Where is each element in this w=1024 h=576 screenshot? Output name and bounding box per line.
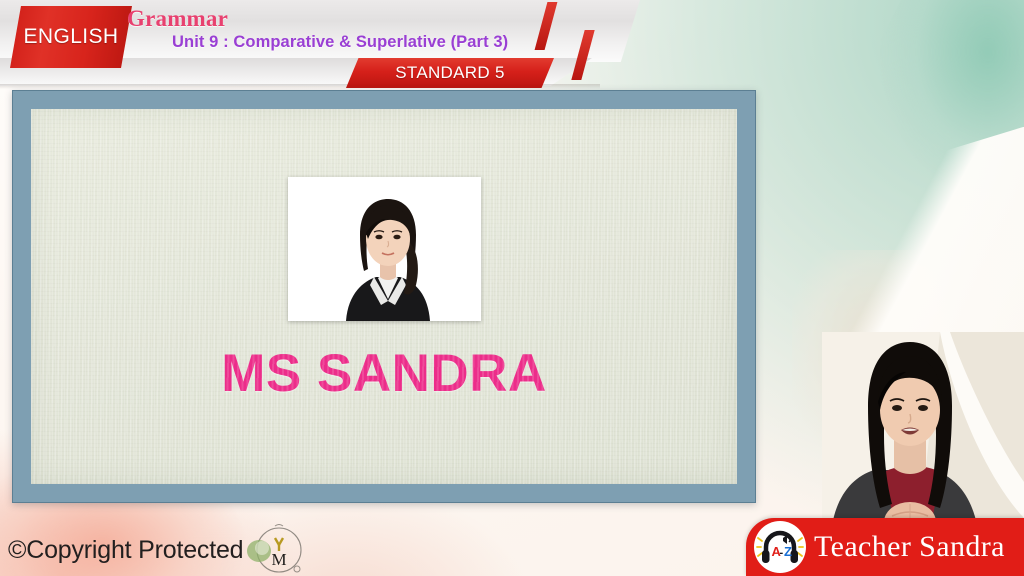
- presenter-webcam-image: [822, 332, 1024, 544]
- standard-tag-label: STANDARD 5: [395, 63, 504, 83]
- copyright-notice: ©Copyright Protected M: [8, 524, 307, 576]
- svg-text:M: M: [272, 550, 287, 569]
- ym-logo-watermark-icon: M: [247, 524, 307, 576]
- subject-tag-english: ENGLISH: [10, 6, 132, 68]
- teacher-name-label: Teacher Sandra: [814, 530, 1005, 564]
- subject-tag-label: ENGLISH: [24, 25, 119, 49]
- teacher-branding-badge: A - Z Teacher Sandra: [746, 518, 1024, 576]
- portrait-illustration: [288, 177, 481, 321]
- svg-text:-: -: [780, 547, 784, 559]
- presenter-portrait: [288, 177, 481, 321]
- category-label-grammar: Grammar: [127, 6, 228, 32]
- slide-title: MS SANDRA: [221, 347, 546, 400]
- headphones-az-icon: A - Z: [754, 521, 806, 573]
- slide-inner-frame: MS SANDRA: [31, 109, 737, 484]
- unit-title: Unit 9 : Comparative & Superlative (Part…: [172, 33, 508, 52]
- presentation-slide: MS SANDRA: [12, 90, 756, 503]
- logo-letter-z: Z: [784, 544, 792, 559]
- copyright-text: ©Copyright Protected: [8, 536, 243, 565]
- standard-tag: STANDARD 5: [346, 58, 554, 88]
- lesson-header: ENGLISH Grammar Unit 9 : Comparative & S…: [0, 0, 660, 88]
- presenter-webcam-overlay: [822, 332, 1024, 544]
